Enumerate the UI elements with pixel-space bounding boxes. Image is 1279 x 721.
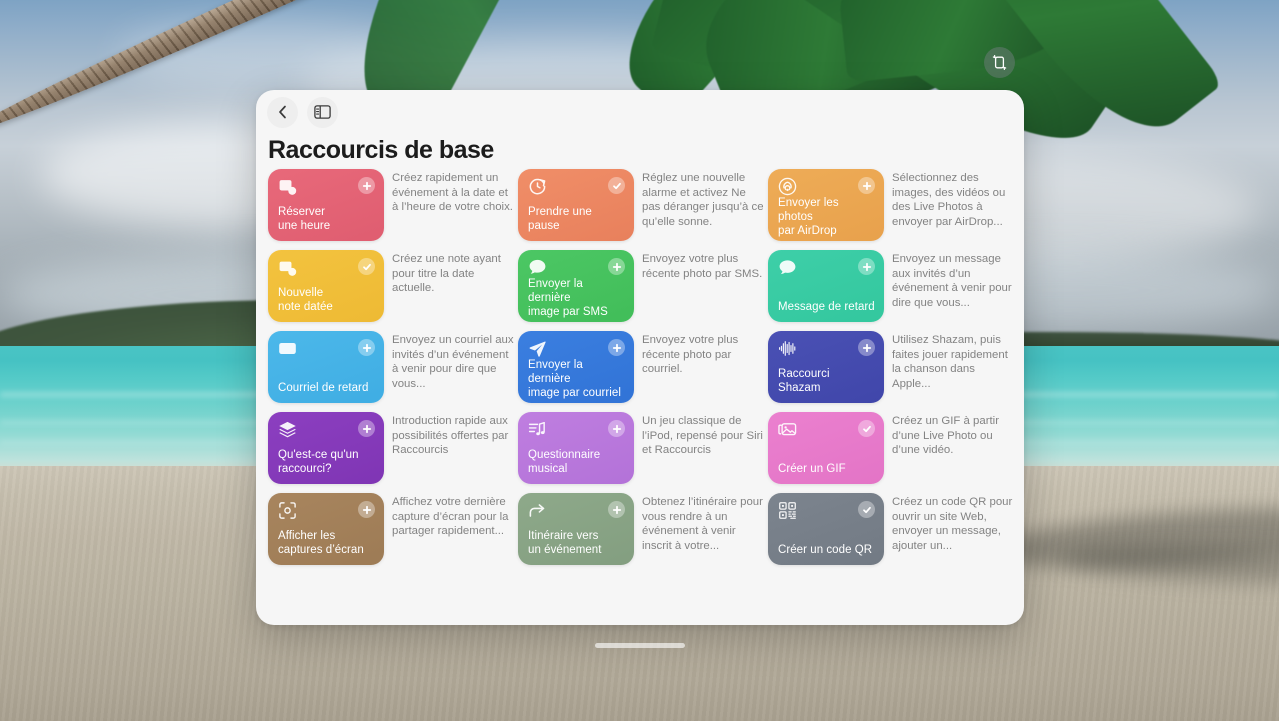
shortcut-description: Utilisez Shazam, puis faites jouer rapid… — [892, 331, 1016, 403]
shortcut-card-top — [278, 501, 375, 520]
shortcut-card-top — [778, 501, 875, 520]
shortcut-cell: Envoyer la dernièreimage par courrielEnv… — [518, 331, 766, 403]
shortcut-description: Créez un code QR pour ouvrir un site Web… — [892, 493, 1016, 565]
shortcut-card[interactable]: Raccourci Shazam — [768, 331, 884, 403]
shortcut-description: Créez une note ayant pour titre la date … — [392, 250, 516, 322]
add-shortcut-button[interactable] — [358, 339, 375, 356]
shortcut-card-label: Courriel de retard — [278, 381, 375, 395]
shortcut-card-top — [528, 177, 625, 196]
shortcut-card-label: Créer un GIF — [778, 462, 875, 476]
shortcut-card-top — [778, 258, 875, 277]
shortcut-cell: Créer un GIFCréez un GIF à partir d’une … — [768, 412, 1016, 484]
shortcut-description: Sélectionnez des images, des vidéos ou d… — [892, 169, 1016, 241]
shortcut-cell: Raccourci ShazamUtilisez Shazam, puis fa… — [768, 331, 1016, 403]
rotation-lock-button[interactable] — [984, 47, 1015, 78]
note-add-icon — [278, 258, 297, 277]
shortcut-card-top — [528, 420, 625, 439]
add-shortcut-button[interactable] — [608, 501, 625, 518]
added-check-badge[interactable] — [358, 258, 375, 275]
shortcut-card-label: Itinéraire versun événement — [528, 529, 625, 557]
shortcut-cell: Créer un code QRCréez un code QR pour ou… — [768, 493, 1016, 565]
shortcut-card-top — [278, 177, 375, 196]
add-shortcut-button[interactable] — [858, 258, 875, 275]
shortcut-description: Introduction rapide aux possibilités off… — [392, 412, 516, 484]
shortcut-card-top — [778, 177, 875, 196]
shortcut-card-top — [778, 420, 875, 439]
sidebar-toggle-icon — [314, 105, 331, 119]
added-check-badge[interactable] — [608, 177, 625, 194]
add-shortcut-button[interactable] — [358, 420, 375, 437]
shortcut-card[interactable]: Itinéraire versun événement — [518, 493, 634, 565]
shortcut-description: Obtenez l’itinéraire pour vous rendre à … — [642, 493, 766, 565]
message-add-icon — [528, 258, 547, 277]
shortcut-cell: Afficher lescaptures d’écranAffichez vot… — [268, 493, 516, 565]
shortcut-card[interactable]: Qu'est-ce qu'unraccourci? — [268, 412, 384, 484]
shortcut-card-label: Réserverune heure — [278, 205, 375, 233]
shortcut-cell: Qu'est-ce qu'unraccourci?Introduction ra… — [268, 412, 516, 484]
shortcut-card-label: Prendre une pause — [528, 205, 625, 233]
added-check-badge[interactable] — [858, 420, 875, 437]
layers-icon — [278, 420, 297, 439]
qr-code-icon — [778, 501, 797, 520]
shortcut-card-label: Afficher lescaptures d’écran — [278, 529, 375, 557]
add-shortcut-button[interactable] — [608, 339, 625, 356]
turn-right-arrow-icon — [528, 501, 547, 520]
shortcut-card-top — [778, 339, 875, 358]
add-shortcut-button[interactable] — [358, 177, 375, 194]
shortcut-description: Envoyez votre plus récente photo par cou… — [642, 331, 766, 403]
shortcut-card-label: Message de retard — [778, 300, 875, 314]
shortcut-card-label: Nouvellenote datée — [278, 286, 375, 314]
shortcut-cell: Envoyer les photospar AirDropSélectionne… — [768, 169, 1016, 241]
shortcut-description: Créez un GIF à partir d’une Live Photo o… — [892, 412, 1016, 484]
added-check-badge[interactable] — [858, 501, 875, 518]
shortcut-description: Envoyez un courriel aux invités d’un évé… — [392, 331, 516, 403]
sidebar-toggle-button[interactable] — [307, 97, 338, 128]
shortcut-card-label: Créer un code QR — [778, 543, 875, 557]
add-shortcut-button[interactable] — [858, 177, 875, 194]
shortcut-cell: Prendre une pauseRéglez une nouvelle ala… — [518, 169, 766, 241]
shortcut-card-label: Questionnairemusical — [528, 448, 625, 476]
add-shortcut-button[interactable] — [358, 501, 375, 518]
shortcut-description: Créez rapidement un événement à la date … — [392, 169, 516, 241]
screenshot-icon — [278, 501, 297, 520]
shortcut-card-label: Qu'est-ce qu'unraccourci? — [278, 448, 375, 476]
shortcut-card[interactable]: Créer un code QR — [768, 493, 884, 565]
paper-plane-icon — [528, 339, 547, 358]
shortcut-card-top — [528, 339, 625, 358]
add-shortcut-button[interactable] — [858, 339, 875, 356]
add-shortcut-button[interactable] — [608, 420, 625, 437]
music-list-icon — [528, 420, 547, 439]
shortcut-description: Un jeu classique de l’iPod, repensé pour… — [642, 412, 766, 484]
shortcut-card[interactable]: Créer un GIF — [768, 412, 884, 484]
waveform-icon — [778, 339, 797, 358]
shortcut-cell: Envoyer la dernièreimage par SMSEnvoyez … — [518, 250, 766, 322]
shortcut-card-top — [528, 501, 625, 520]
shortcut-card-top — [278, 420, 375, 439]
shortcut-card[interactable]: Nouvellenote datée — [268, 250, 384, 322]
chevron-left-icon — [277, 105, 289, 119]
shortcut-description: Envoyez un message aux invités d’un évén… — [892, 250, 1016, 322]
shortcut-description: Envoyez votre plus récente photo par SMS… — [642, 250, 766, 322]
page-title-wrap: Raccourcis de base — [268, 136, 494, 165]
shortcut-cell: Itinéraire versun événementObtenez l’iti… — [518, 493, 766, 565]
shortcut-card-label: Envoyer la dernièreimage par courriel — [528, 358, 625, 400]
photo-stack-icon — [778, 420, 797, 439]
timer-icon — [528, 177, 547, 196]
shortcut-card-label: Envoyer la dernièreimage par SMS — [528, 277, 625, 319]
shortcut-card-top — [528, 258, 625, 277]
shortcuts-panel: Raccourcis de base Réserverune heureCrée… — [256, 90, 1024, 625]
shortcut-card[interactable]: Envoyer la dernièreimage par courriel — [518, 331, 634, 403]
shortcut-cell: Courriel de retardEnvoyez un courriel au… — [268, 331, 516, 403]
home-indicator[interactable] — [595, 643, 685, 648]
panel-toolbar — [256, 90, 1024, 134]
shortcut-card[interactable]: Questionnairemusical — [518, 412, 634, 484]
shortcut-cell: QuestionnairemusicalUn jeu classique de … — [518, 412, 766, 484]
shortcuts-grid: Réserverune heureCréez rapidement un évé… — [268, 169, 1014, 565]
shortcut-card-top — [278, 258, 375, 277]
add-shortcut-button[interactable] — [608, 258, 625, 275]
shortcut-card[interactable]: Prendre une pause — [518, 169, 634, 241]
shortcut-card-label: Envoyer les photospar AirDrop — [778, 196, 875, 238]
shortcut-description: Affichez votre dernière capture d’écran … — [392, 493, 516, 565]
shortcut-description: Réglez une nouvelle alarme et activez Ne… — [642, 169, 766, 241]
shortcut-cell: Nouvellenote datéeCréez une note ayant p… — [268, 250, 516, 322]
shortcut-cell: Message de retardEnvoyez un message aux … — [768, 250, 1016, 322]
shortcut-card[interactable]: Réserverune heure — [268, 169, 384, 241]
mail-icon — [278, 339, 297, 358]
message-bubble-icon — [778, 258, 797, 277]
rotation-lock-icon — [992, 54, 1007, 71]
shortcut-card[interactable]: Envoyer les photospar AirDrop — [768, 169, 884, 241]
shortcut-card-top — [278, 339, 375, 358]
shortcut-cell: Réserverune heureCréez rapidement un évé… — [268, 169, 516, 241]
shortcut-card[interactable]: Afficher lescaptures d’écran — [268, 493, 384, 565]
shortcut-card[interactable]: Courriel de retard — [268, 331, 384, 403]
shortcut-card-label: Raccourci Shazam — [778, 367, 875, 395]
calendar-add-icon — [278, 177, 297, 196]
shortcut-card[interactable]: Envoyer la dernièreimage par SMS — [518, 250, 634, 322]
airdrop-icon — [778, 177, 797, 196]
page-title: Raccourcis de base — [268, 136, 494, 165]
back-button[interactable] — [267, 97, 298, 128]
shortcut-card[interactable]: Message de retard — [768, 250, 884, 322]
